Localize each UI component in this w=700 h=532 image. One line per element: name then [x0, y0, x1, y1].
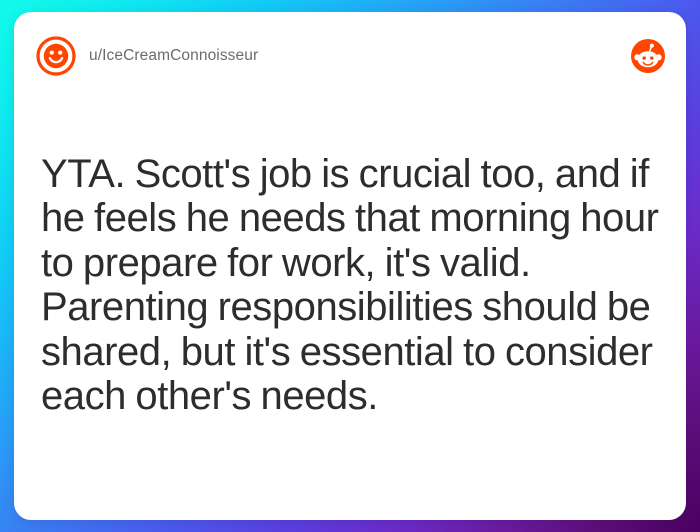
reddit-comment-card: u/IceCreamConnoisseur [14, 12, 686, 520]
screenshot-root: u/IceCreamConnoisseur [0, 0, 700, 532]
avatar[interactable] [36, 36, 76, 76]
username-label: u/IceCreamConnoisseur [89, 47, 258, 65]
reddit-brand-logo[interactable] [630, 38, 666, 74]
comment-body: YTA. Scott's job is crucial too, and if … [41, 152, 666, 418]
smiley-face-icon [36, 36, 76, 76]
reddit-snoo-icon [630, 38, 666, 74]
card-header: u/IceCreamConnoisseur [14, 12, 686, 100]
